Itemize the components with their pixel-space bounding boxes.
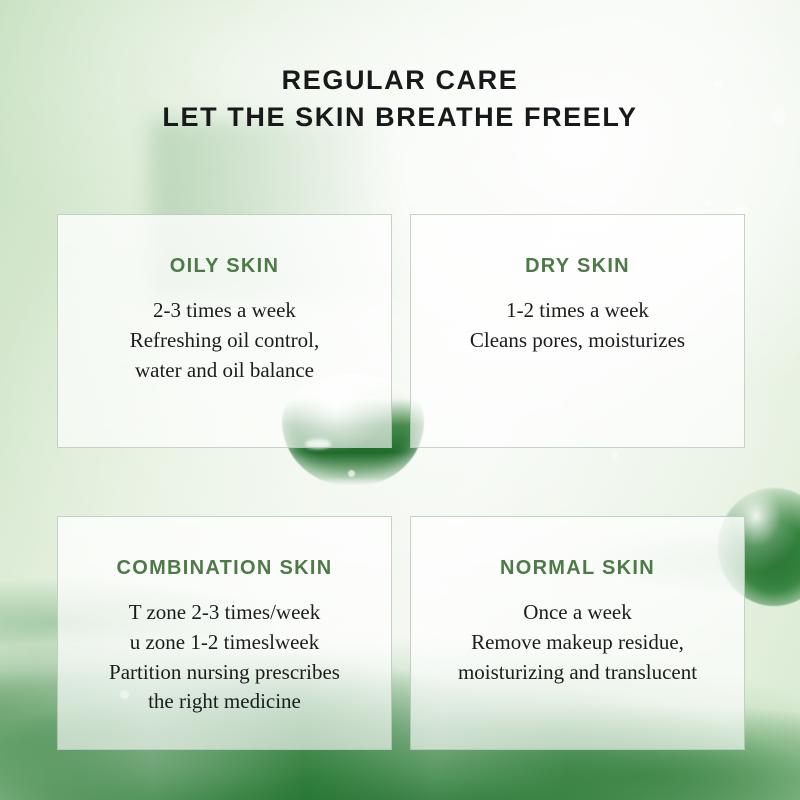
card-body-line: Cleans pores, moisturizes — [470, 326, 685, 356]
card-dry-skin: DRY SKIN 1-2 times a week Cleans pores, … — [410, 214, 745, 448]
card-body: Once a week Remove makeup residue, moist… — [448, 598, 707, 687]
card-body: T zone 2-3 times/week u zone 1-2 timeslw… — [99, 598, 350, 717]
infographic-canvas: REGULAR CARE LET THE SKIN BREATHE FREELY… — [0, 0, 800, 800]
page-title-line-1: REGULAR CARE — [0, 62, 800, 99]
card-oily-skin: OILY SKIN 2-3 times a week Refreshing oi… — [57, 214, 392, 448]
card-title: OILY SKIN — [170, 255, 280, 278]
card-combination-skin: COMBINATION SKIN T zone 2-3 times/week u… — [57, 516, 392, 750]
card-body: 2-3 times a week Refreshing oil control,… — [120, 296, 330, 385]
card-body-line: moisturizing and translucent — [458, 658, 697, 688]
card-body: 1-2 times a week Cleans pores, moisturiz… — [460, 296, 695, 356]
card-normal-skin: NORMAL SKIN Once a week Remove makeup re… — [410, 516, 745, 750]
card-title: COMBINATION SKIN — [117, 557, 333, 580]
card-body-line: 2-3 times a week — [130, 296, 320, 326]
card-body-line: water and oil balance — [130, 356, 320, 386]
page-title-line-2: LET THE SKIN BREATHE FREELY — [0, 99, 800, 136]
card-body-line: Once a week — [458, 598, 697, 628]
card-title: NORMAL SKIN — [500, 557, 655, 580]
card-title: DRY SKIN — [525, 255, 630, 278]
page-title: REGULAR CARE LET THE SKIN BREATHE FREELY — [0, 62, 800, 137]
card-body-line: 1-2 times a week — [470, 296, 685, 326]
content-layer: REGULAR CARE LET THE SKIN BREATHE FREELY… — [0, 0, 800, 800]
card-body-line: the right medicine — [109, 687, 340, 717]
card-body-line: Partition nursing prescribes — [109, 658, 340, 688]
card-body-line: Refreshing oil control, — [130, 326, 320, 356]
skin-type-card-grid: OILY SKIN 2-3 times a week Refreshing oi… — [57, 214, 745, 750]
card-body-line: T zone 2-3 times/week — [109, 598, 340, 628]
card-body-line: u zone 1-2 timeslweek — [109, 628, 340, 658]
card-body-line: Remove makeup residue, — [458, 628, 697, 658]
